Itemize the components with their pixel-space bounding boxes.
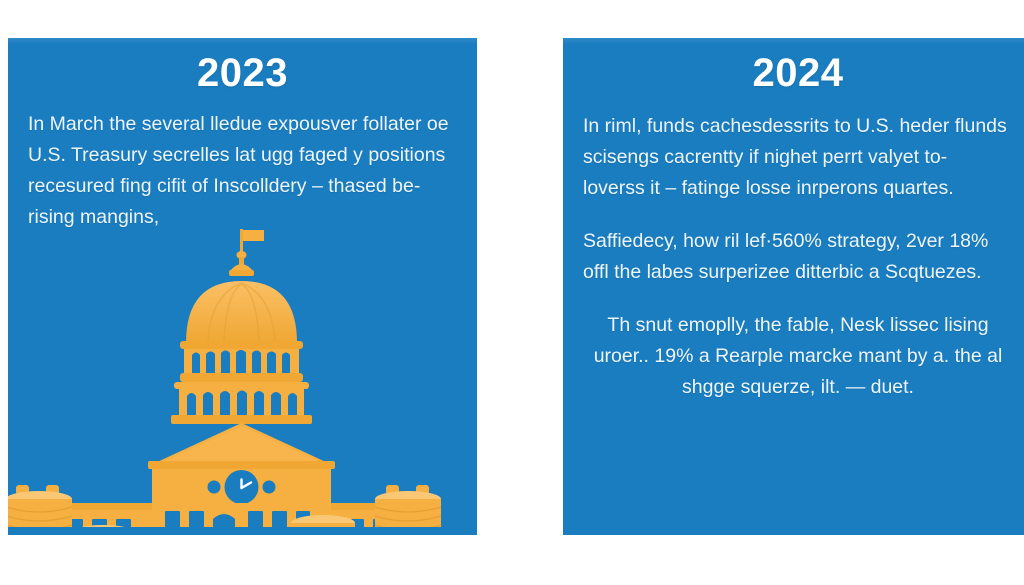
panel-2023-paragraph-1: In March the several lledue expousver fo… (28, 109, 457, 233)
panel-2024-body: In riml, funds cachesdessrits to U.S. he… (563, 111, 1024, 403)
capitol-building-icon (8, 227, 477, 527)
coin-stack-far-right (375, 485, 441, 527)
panel-2024: 2024 In riml, funds cachesdessrits to U.… (563, 38, 1024, 535)
capitol-building-illustration (8, 227, 477, 527)
infographic-stage: 2023 In March the several lledue expousv… (0, 0, 1024, 585)
panel-2024-paragraph-1: In riml, funds cachesdessrits to U.S. he… (583, 111, 1013, 204)
panel-2024-heading: 2024 (563, 38, 1024, 93)
panel-2023: 2023 In March the several lledue expousv… (8, 38, 477, 535)
panel-2023-heading: 2023 (8, 38, 477, 93)
panel-2023-body: In March the several lledue expousver fo… (8, 109, 477, 233)
coin-stack-far-left (8, 485, 72, 527)
panel-2024-paragraph-3: Th snut emoplly, the fable, Nesk lissec … (583, 310, 1013, 403)
panel-2024-paragraph-2: Saffiedecy, how ril lef·560% strategy, 2… (583, 226, 1013, 288)
